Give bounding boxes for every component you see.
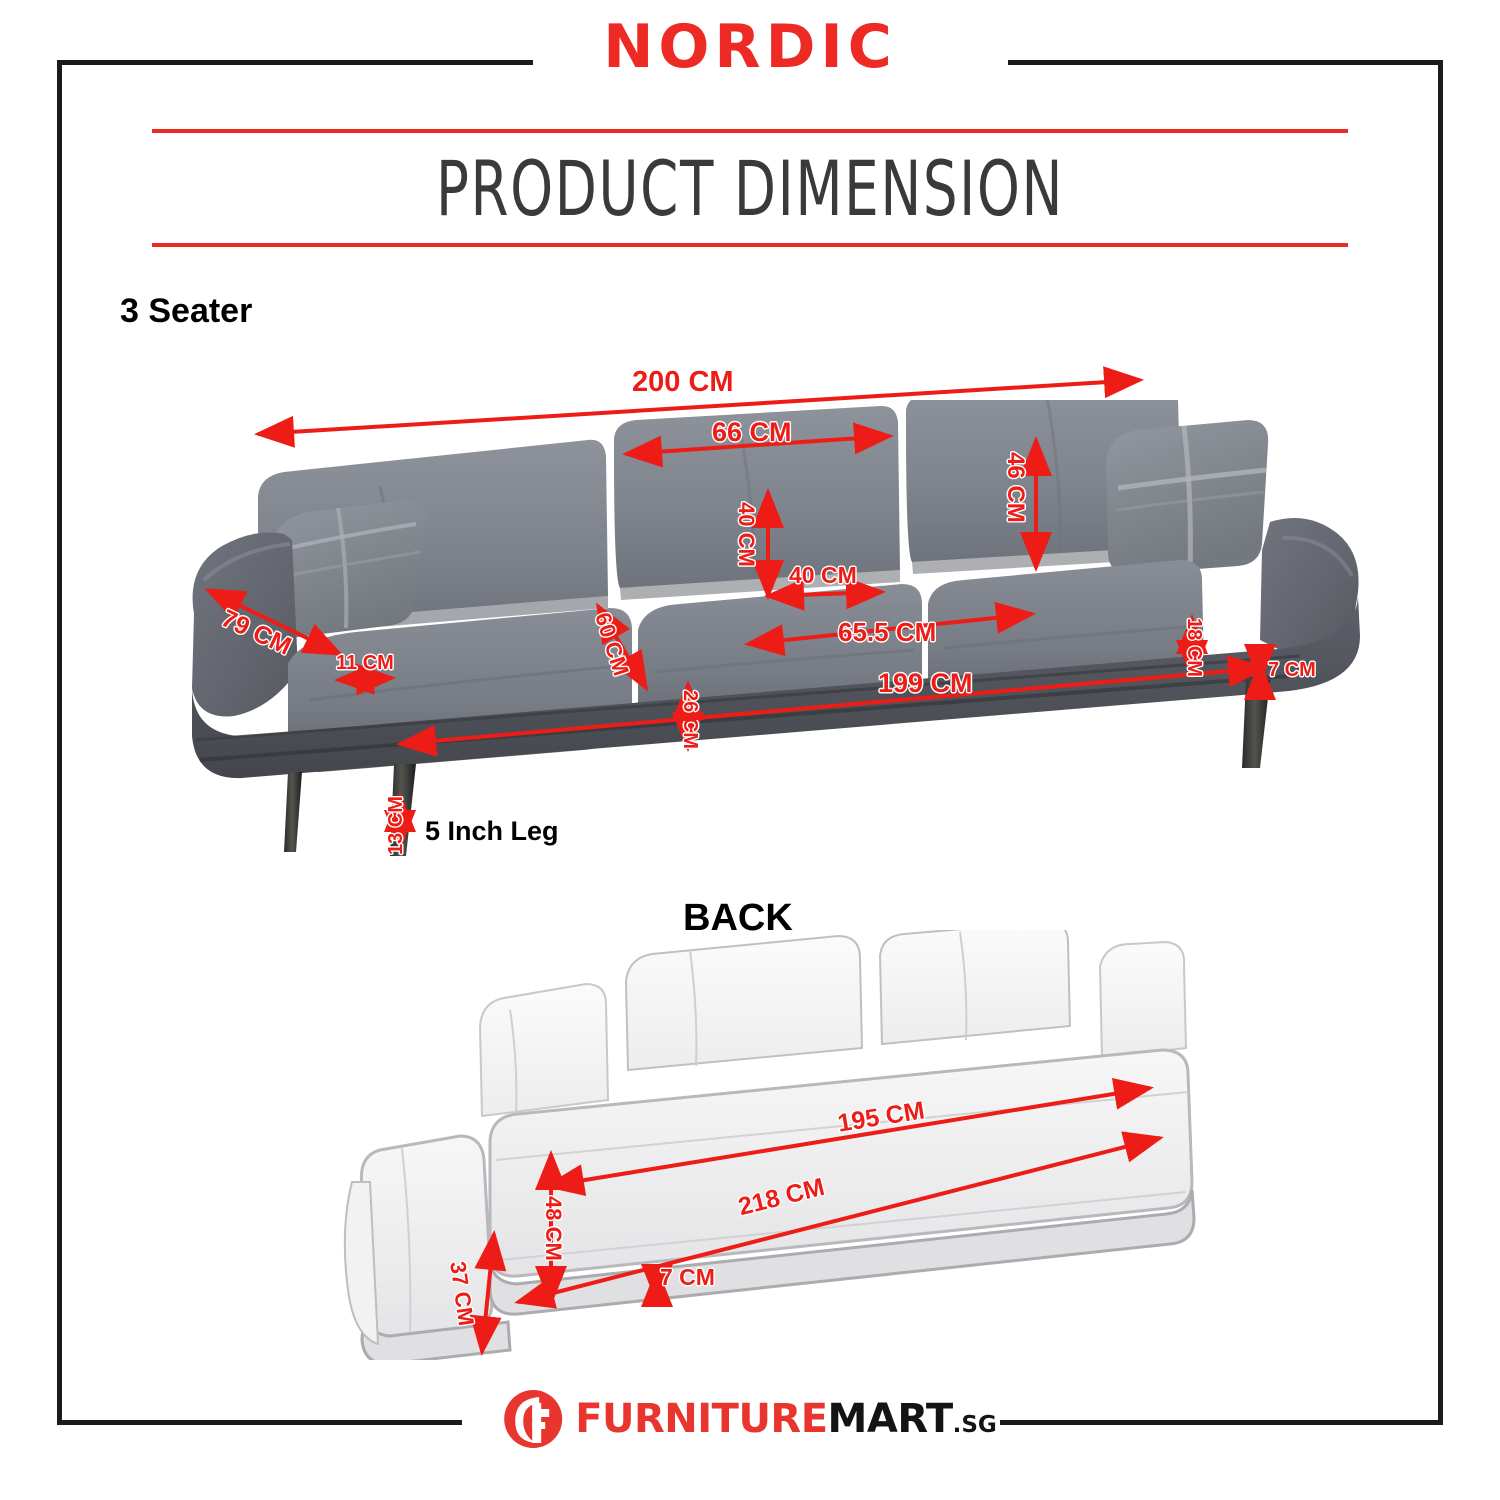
footer-logo[interactable]: FURNITUREMART.SG bbox=[0, 1389, 1500, 1459]
dim-11cm: 11 CM bbox=[336, 653, 394, 673]
dim-199cm: 199 CM bbox=[878, 670, 973, 697]
front-view-label: 3 Seater bbox=[120, 292, 252, 331]
arrow-199cm bbox=[392, 660, 1272, 752]
brand-title: NORDIC bbox=[0, 17, 1500, 77]
logo-text-furniture: FURNITURE bbox=[575, 1396, 827, 1442]
frame-border-right bbox=[1438, 60, 1443, 1425]
arrow-37cm bbox=[472, 1228, 506, 1358]
dim-66cm: 66 CM bbox=[712, 419, 792, 446]
dim-48cm: 48 CM bbox=[542, 1196, 564, 1261]
logo-text-sg: .SG bbox=[953, 1412, 997, 1438]
dim-40cm-horizontal: 40 CM bbox=[789, 564, 857, 587]
frame-border-left bbox=[57, 60, 62, 1425]
dim-18cm: 18 CM bbox=[1184, 618, 1204, 677]
dim-46cm: 46 CM bbox=[1003, 452, 1027, 523]
divider-rule-bottom bbox=[152, 243, 1348, 247]
divider-rule-top bbox=[152, 129, 1348, 133]
dim-200cm: 200 CM bbox=[632, 368, 734, 397]
page-title: PRODUCT DIMENSION bbox=[150, 139, 1350, 239]
dim-65-5cm: 65.5 CM bbox=[838, 619, 936, 645]
dim-7cm-back: 7 CM bbox=[660, 1266, 715, 1289]
leg-note-label: 5 Inch Leg bbox=[425, 816, 559, 847]
dim-13cm: 13 CM bbox=[386, 796, 406, 855]
furnituremart-logo-icon bbox=[503, 1389, 563, 1449]
arrow-218cm bbox=[510, 1130, 1170, 1310]
logo-text-mart: MART bbox=[828, 1396, 953, 1442]
poster-canvas: NORDIC PRODUCT DIMENSION 3 Seater bbox=[0, 0, 1500, 1500]
dim-7cm-front: 7 CM bbox=[1268, 660, 1316, 680]
dim-40cm-vertical: 40 CM bbox=[735, 502, 757, 567]
